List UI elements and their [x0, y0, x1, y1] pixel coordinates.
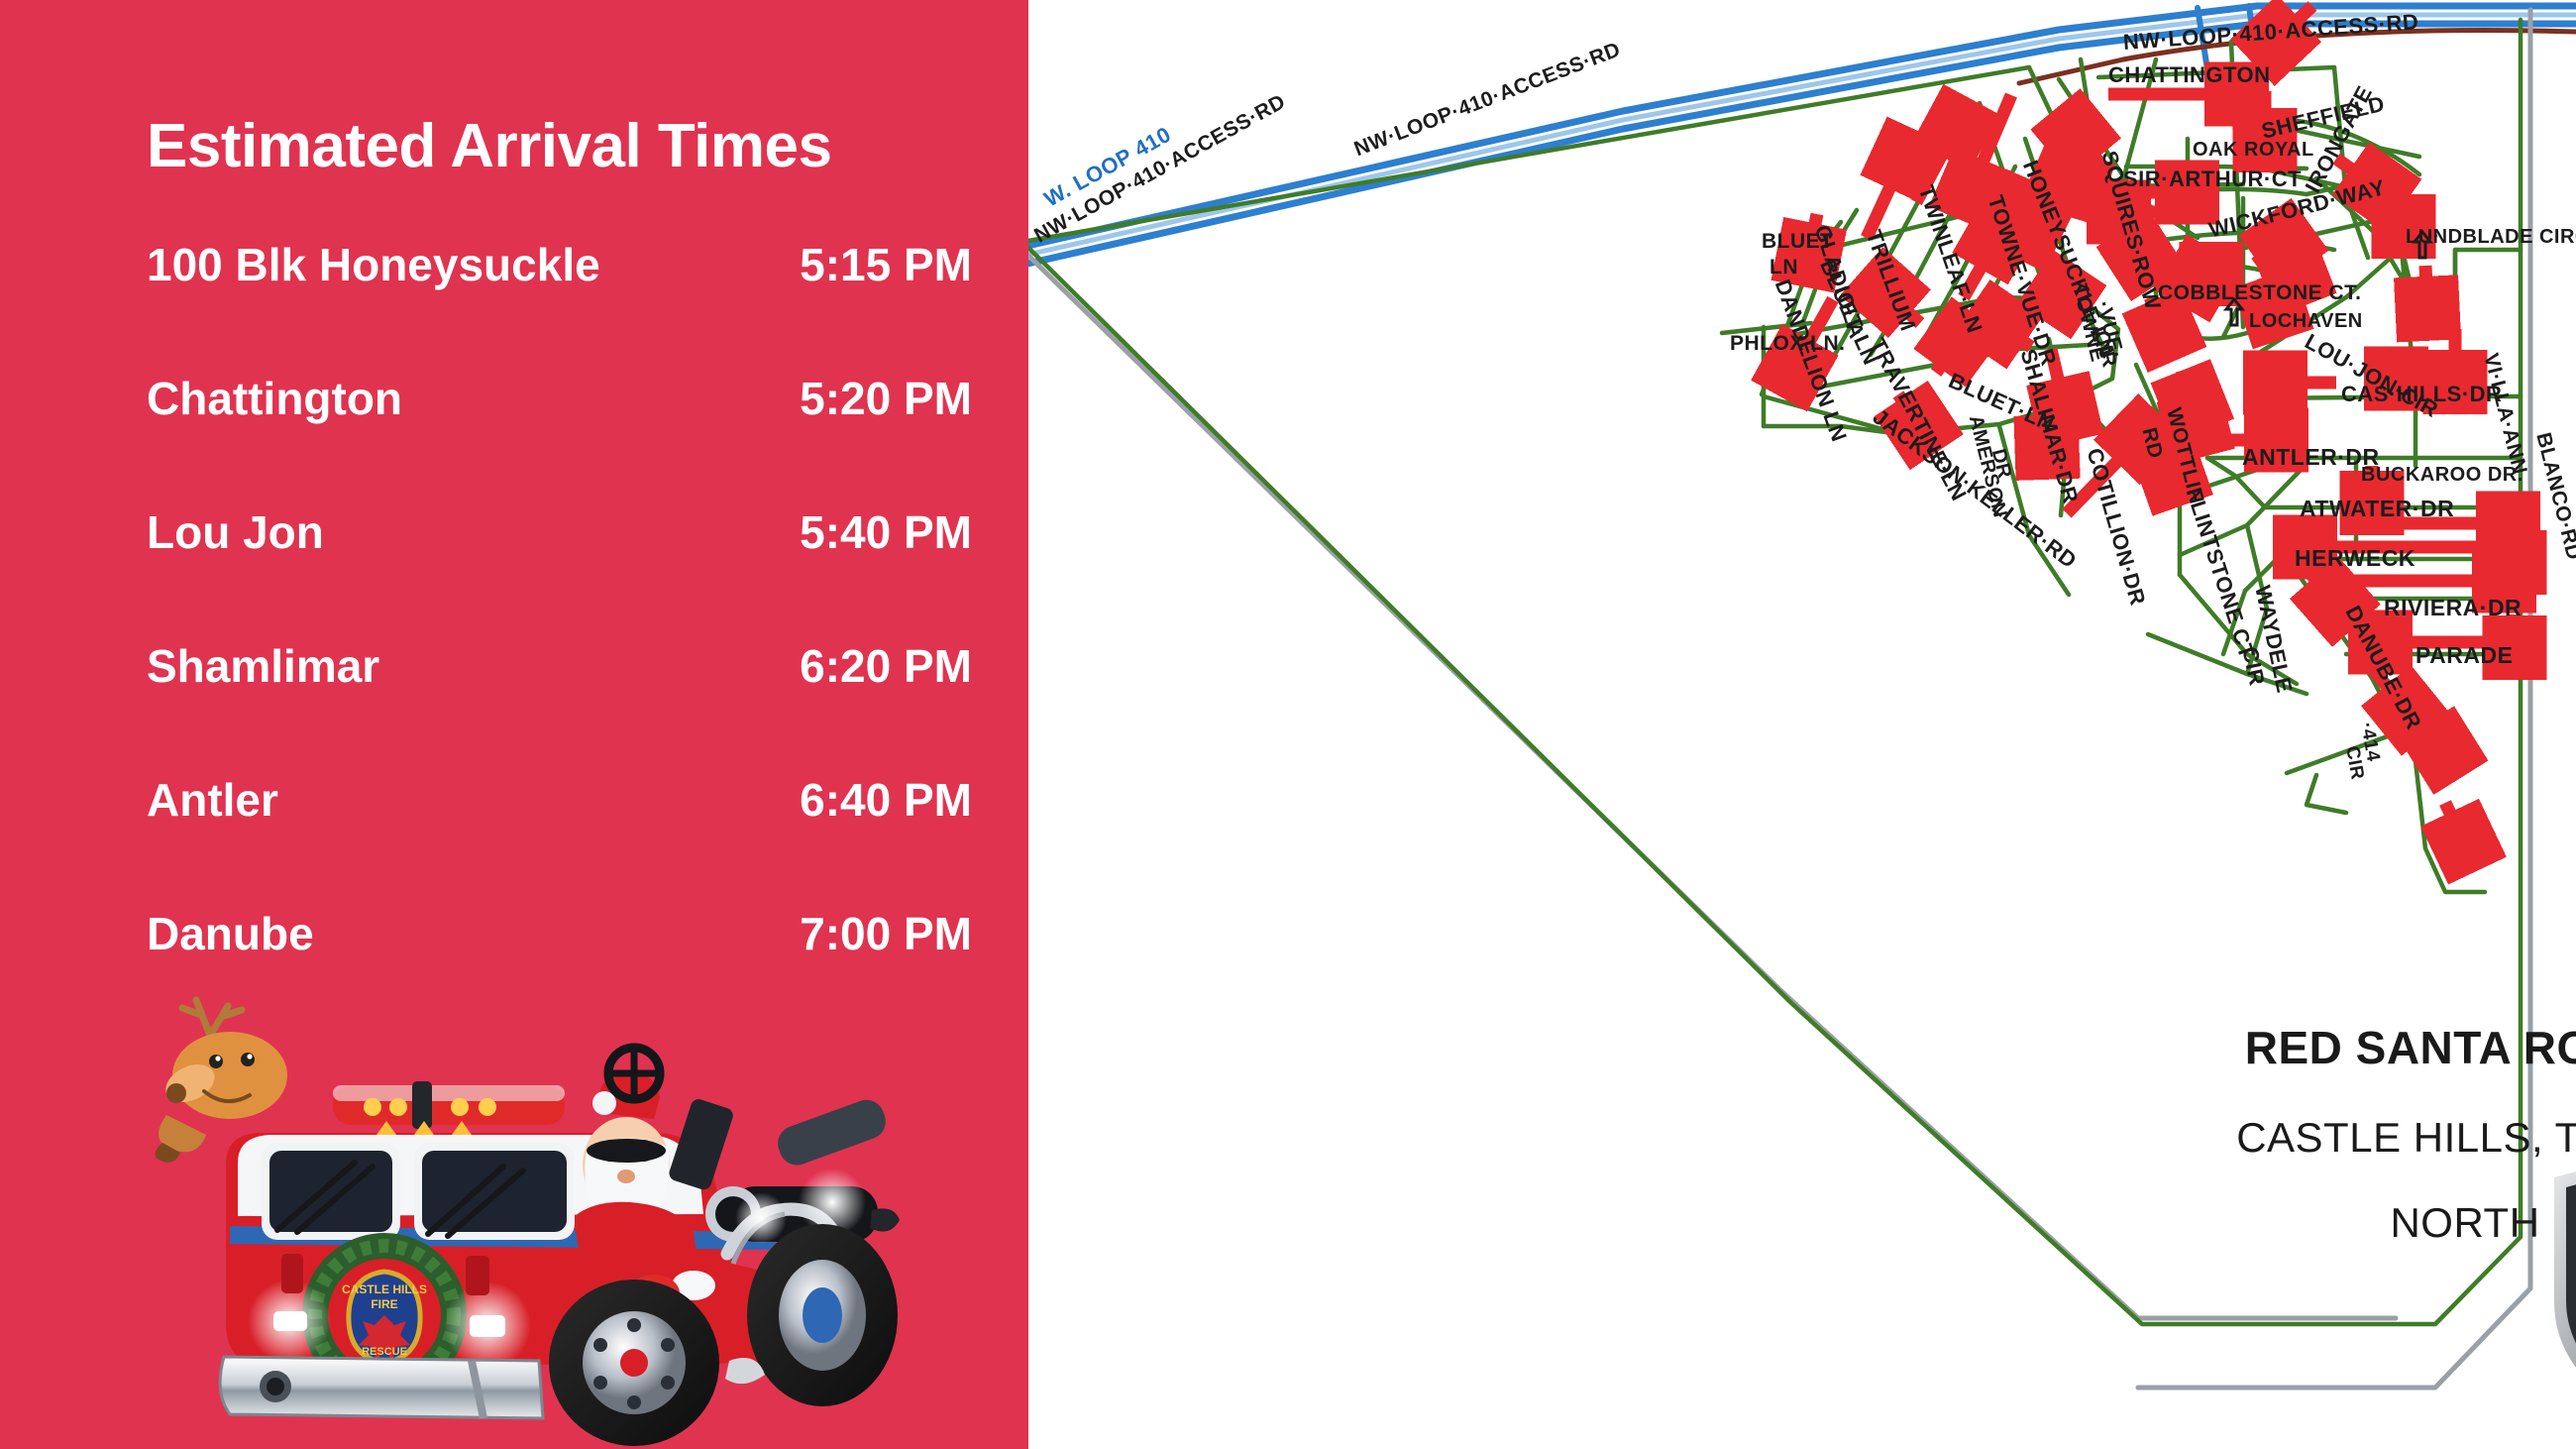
stop-time: 5:20 PM: [800, 372, 972, 425]
emblem-line3: RESCUE: [362, 1346, 407, 1358]
stop-time: 5:40 PM: [800, 505, 972, 559]
stop-name: Danube: [147, 907, 314, 960]
map-street-label: OAK ROYAL: [2193, 139, 2314, 162]
stop-time: 7:00 PM: [800, 907, 972, 960]
map-street-label: RIVIERA·DR: [2384, 595, 2522, 621]
map-street-label: ANTLER·DR: [2242, 444, 2380, 471]
emblem-line1: CASTLE HILLS: [342, 1282, 427, 1296]
firetruck-santa-illustration: CASTLE HILLS FIRE RESCUE: [139, 966, 921, 1449]
santa-route-poster: Estimated Arrival Times 100 Blk Honeysuc…: [0, 0, 2576, 1449]
map-street-label: PHLOX LN.: [1730, 332, 1846, 356]
emblem-line2: FIRE: [371, 1297, 397, 1311]
map-street-label: LUNDBLADE CIRCLE: [2406, 226, 2576, 249]
route-city: CASTLE HILLS, TEXAS: [2118, 1114, 2576, 1162]
route-title: RED SANTA ROUTE: [2118, 1021, 2576, 1074]
map-street-label: SIR·ARTHUR·CT: [2123, 167, 2302, 192]
stop-name: Antler: [147, 773, 278, 827]
schedule-panel: Estimated Arrival Times 100 Blk Honeysuc…: [0, 0, 1028, 1449]
stop-name: 100 Blk Honeysuckle: [147, 238, 600, 291]
stop-name: Lou Jon: [147, 505, 324, 559]
map-street-label: LN: [1770, 256, 1798, 279]
map-street-label: HERWECK: [2295, 545, 2415, 572]
stop-name: Chattington: [147, 372, 402, 425]
castle-hills-police-badge: CASTLE HILLS STATE OF TEXAS: [2542, 1152, 2576, 1439]
map-street-label: CHATTINGTON: [2108, 62, 2271, 88]
stop-time: 6:40 PM: [800, 773, 972, 827]
list-item: Antler 6:40 PM: [147, 773, 994, 907]
map-street-label: BUCKAROO DR.: [2361, 464, 2523, 487]
route-map: W. LOOP 410NW·LOOP·410·ACCESS·RDNW·LOOP·…: [1028, 0, 2576, 1449]
stop-time: 6:20 PM: [800, 639, 972, 693]
map-street-label: ATWATER·DR: [2300, 496, 2454, 522]
schedule-list: 100 Blk Honeysuckle 5:15 PM Chattington …: [147, 238, 994, 1041]
list-item: Chattington 5:20 PM: [147, 372, 994, 505]
stop-name: Shamlimar: [147, 639, 379, 693]
map-street-label: PARADE: [2415, 642, 2513, 669]
map-street-label: LOCHAVEN: [2249, 310, 2363, 333]
stop-time: 5:15 PM: [800, 238, 972, 291]
list-item: 100 Blk Honeysuckle 5:15 PM: [147, 238, 994, 372]
map-street-label: BLUET: [1762, 230, 1834, 254]
route-north-label: NORTH: [2118, 1199, 2576, 1247]
list-item: Shamlimar 6:20 PM: [147, 639, 994, 773]
list-item: Lou Jon 5:40 PM: [147, 505, 994, 639]
map-street-label: COBBLESTONE CT.: [2158, 281, 2361, 305]
map-street-label: CAS·HILLS·DR: [2341, 382, 2502, 407]
page-title: Estimated Arrival Times: [147, 111, 831, 181]
map-title-block: RED SANTA ROUTE CASTLE HILLS, TEXAS NORT…: [2118, 1021, 2576, 1247]
